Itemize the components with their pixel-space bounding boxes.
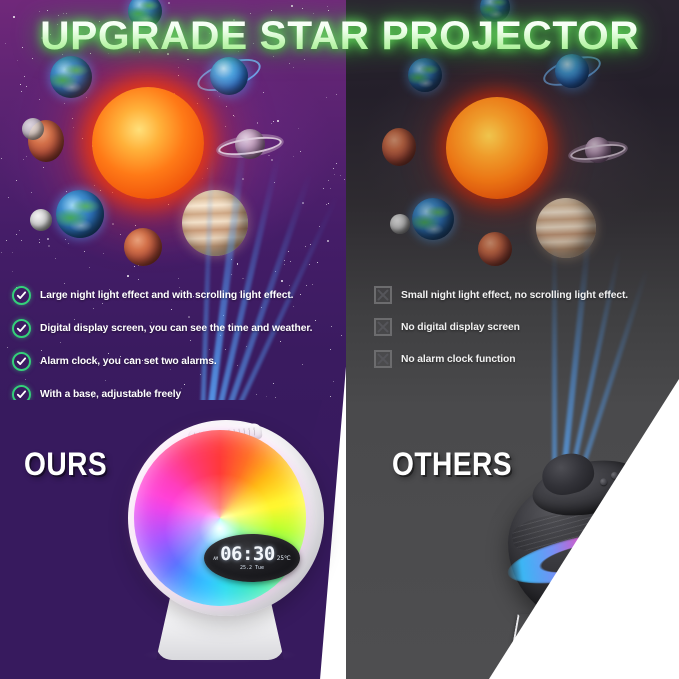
header: UPGRADE STAR PROJECTOR xyxy=(0,14,679,59)
planet-sun xyxy=(446,97,548,199)
feature-text: Digital display screen, you can see the … xyxy=(40,323,312,334)
feature-item: Small night light effect, no scrolling l… xyxy=(374,286,628,304)
lcd-weekday: Tue xyxy=(255,565,264,571)
feature-text: No digital display screen xyxy=(401,322,520,333)
planet-jupiter xyxy=(536,198,596,258)
rgb-light-face xyxy=(134,430,306,606)
lcd-ampm: AM xyxy=(213,556,218,561)
planet-mars-lower xyxy=(478,232,512,266)
planet-moon-small-left xyxy=(22,118,44,140)
lcd-date: 25.2 xyxy=(240,565,252,571)
feature-item: Alarm clock, you can set two alarms. xyxy=(12,352,312,371)
digital-display: AM 06:30 25℃ 25.2 Tue xyxy=(204,534,300,582)
ours-label: OURS xyxy=(24,446,107,483)
feature-item: Digital display screen, you can see the … xyxy=(12,319,312,338)
planet-mars-left xyxy=(382,128,416,166)
page-title: UPGRADE STAR PROJECTOR xyxy=(40,14,639,59)
lcd-temperature: 25℃ xyxy=(277,555,291,562)
others-feature-list: Small night light effect, no scrolling l… xyxy=(374,286,628,382)
button-dot[interactable] xyxy=(599,478,607,486)
planet-earth-lower xyxy=(56,190,104,238)
planet-earth-lower xyxy=(412,198,454,240)
planet-moon xyxy=(390,214,410,234)
feature-text: Alarm clock, you can set two alarms. xyxy=(40,356,217,367)
x-box-icon xyxy=(374,286,392,304)
check-circle-icon xyxy=(12,319,31,338)
planet-saturn xyxy=(568,131,628,173)
planet-earth-upper xyxy=(50,56,92,98)
check-circle-icon xyxy=(12,352,31,371)
feature-item: No alarm clock function xyxy=(374,350,628,368)
planet-saturn xyxy=(216,123,284,169)
planet-moon xyxy=(30,209,52,231)
x-box-icon xyxy=(374,350,392,368)
planet-earth-upper xyxy=(408,58,442,92)
product-shell xyxy=(128,420,324,616)
planet-sun xyxy=(92,87,204,199)
feature-item: No digital display screen xyxy=(374,318,628,336)
feature-text: No alarm clock function xyxy=(401,354,515,365)
lcd-time: 06:30 xyxy=(220,545,275,564)
feature-text: Small night light effect, no scrolling l… xyxy=(401,290,628,301)
feature-text: With a base, adjustable freely xyxy=(40,389,181,400)
ours-product-image: AM 06:30 25℃ 25.2 Tue xyxy=(118,404,338,679)
planet-mars-lower xyxy=(124,228,162,266)
planet-jupiter xyxy=(182,190,248,256)
x-box-icon xyxy=(374,318,392,336)
comparison-infographic: Large night light effect and with scroll… xyxy=(0,0,679,679)
check-circle-icon xyxy=(12,286,31,305)
ours-feature-list: Large night light effect and with scroll… xyxy=(12,286,312,418)
feature-item: Large night light effect and with scroll… xyxy=(12,286,312,305)
feature-text: Large night light effect and with scroll… xyxy=(40,290,293,301)
